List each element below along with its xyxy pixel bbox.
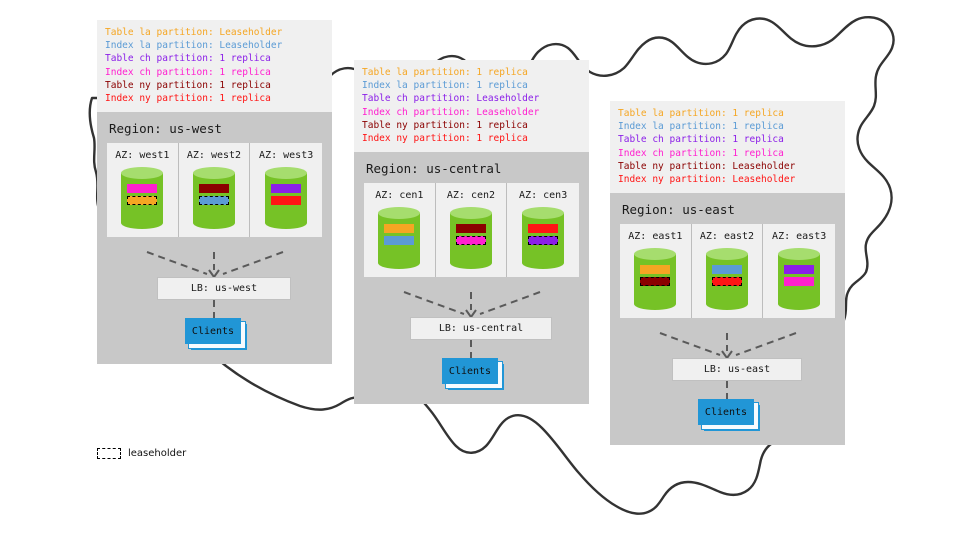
partition-bands [193,184,235,205]
partition-band [784,265,814,274]
connector-arrowhead [209,270,219,277]
az-label: AZ: cen3 [507,190,579,201]
az-label: AZ: west3 [250,150,322,161]
region-title: Region: us-east [610,193,845,224]
legend-line: Table la partition: Leaseholder [105,26,324,39]
legend-us-west: Table la partition: Leaseholder Index la… [97,20,332,112]
az-east1[interactable]: AZ: east1 [620,224,692,318]
az-label: AZ: cen2 [436,190,507,201]
partition-band [456,236,486,245]
az-east3[interactable]: AZ: east3 [763,224,835,318]
partition-band [640,265,670,274]
connector-arrowhead [722,351,732,358]
az-label: AZ: east3 [763,231,835,242]
partition-band [712,265,742,274]
clients-card-front[interactable]: Clients [185,318,241,344]
az-label: AZ: east2 [692,231,763,242]
clients-stack: Clients [185,318,241,344]
legend-line: Table ny partition: 1 replica [105,79,324,92]
node-cylinder[interactable] [265,167,307,227]
clients-label: Clients [449,366,491,377]
legend-us-central: Table la partition: 1 replica Index la p… [354,60,589,152]
connector-az1-lb [660,333,720,355]
legend-line: Index la partition: 1 replica [362,79,581,92]
region-title: Region: us-west [97,112,332,143]
region-us-east: Table la partition: 1 replica Index la p… [610,101,845,445]
node-cylinder[interactable] [193,167,235,227]
clients-us-central[interactable]: Clients [442,358,498,384]
region-title: Region: us-central [354,152,589,183]
az-west3[interactable]: AZ: west3 [250,143,322,237]
az-row-us-west: AZ: west1 AZ: west2 [107,143,322,237]
clients-card-front[interactable]: Clients [698,399,754,425]
clients-us-east[interactable]: Clients [698,399,754,425]
partition-band [384,224,414,233]
node-cylinder[interactable] [778,248,820,308]
partition-band [271,196,301,205]
legend-line: Table la partition: 1 replica [362,66,581,79]
node-cylinder[interactable] [450,207,492,267]
legend-line: Table la partition: 1 replica [618,107,837,120]
legend-line: Index ch partition: 1 replica [618,147,837,160]
legend-line: Table ny partition: 1 replica [362,119,581,132]
legend-line: Index ny partition: 1 replica [105,92,324,105]
legend-line: Table ny partition: Leaseholder [618,160,837,173]
partition-bands [378,224,420,245]
partition-bands [121,184,163,205]
partition-band [528,224,558,233]
partition-band [127,196,157,205]
legend-line: Index la partition: 1 replica [618,120,837,133]
legend-line: Table ch partition: 1 replica [618,133,837,146]
partition-band [456,224,486,233]
connector-az1-lb [404,292,464,314]
partition-band [712,277,742,286]
az-west2[interactable]: AZ: west2 [179,143,251,237]
connector-az3-lb [480,292,540,314]
node-cylinder[interactable] [706,248,748,308]
load-balancer-us-central[interactable]: LB: us-central [410,317,552,340]
clients-label: Clients [705,407,747,418]
load-balancer-us-west[interactable]: LB: us-west [157,277,291,300]
az-west1[interactable]: AZ: west1 [107,143,179,237]
partition-band [784,277,814,286]
az-label: AZ: east1 [620,231,691,242]
load-balancer-us-east[interactable]: LB: us-east [672,358,802,381]
region-us-west: Table la partition: Leaseholder Index la… [97,20,332,364]
az-east2[interactable]: AZ: east2 [692,224,764,318]
partition-band [199,184,229,193]
partition-bands [706,265,748,286]
legend-line: Index ny partition: Leaseholder [618,173,837,186]
legend-us-east: Table la partition: 1 replica Index la p… [610,101,845,193]
partition-bands [634,265,676,286]
node-cylinder[interactable] [121,167,163,227]
clients-stack: Clients [442,358,498,384]
legend-line: Index la partition: Leaseholder [105,39,324,52]
partition-bands [450,224,492,245]
clients-card-front[interactable]: Clients [442,358,498,384]
az-label: AZ: cen1 [364,190,435,201]
az-label: AZ: west2 [179,150,250,161]
partition-band [127,184,157,193]
az-cen1[interactable]: AZ: cen1 [364,183,436,277]
region-us-central: Table la partition: 1 replica Index la p… [354,60,589,404]
legend-line: Index ny partition: 1 replica [362,132,581,145]
node-cylinder[interactable] [378,207,420,267]
region-panel-us-west: Region: us-west AZ: west1 AZ: west2 [97,112,332,364]
clients-stack: Clients [698,399,754,425]
connector-az3-lb [736,333,796,355]
legend-line: Table ch partition: 1 replica [105,52,324,65]
node-cylinder[interactable] [522,207,564,267]
node-cylinder[interactable] [634,248,676,308]
legend-line: Table ch partition: Leaseholder [362,92,581,105]
clients-label: Clients [192,326,234,337]
region-panel-us-east: Region: us-east AZ: east1 AZ: east2 [610,193,845,445]
leaseholder-legend-label: leaseholder [128,448,186,459]
partition-band [199,196,229,205]
partition-band [528,236,558,245]
connector-az1-lb [147,252,207,274]
partition-band [384,236,414,245]
partition-bands [522,224,564,245]
az-cen2[interactable]: AZ: cen2 [436,183,508,277]
az-row-us-central: AZ: cen1 AZ: cen2 [364,183,579,277]
partition-bands [778,265,820,286]
az-cen3[interactable]: AZ: cen3 [507,183,579,277]
dashed-rectangle-icon [97,448,121,459]
partition-bands [265,184,307,205]
az-label: AZ: west1 [107,150,178,161]
leaseholder-legend-key: leaseholder [97,448,186,459]
clients-us-west[interactable]: Clients [185,318,241,344]
partition-band [640,277,670,286]
partition-band [271,184,301,193]
legend-line: Index ch partition: Leaseholder [362,106,581,119]
az-row-us-east: AZ: east1 AZ: east2 [620,224,835,318]
region-panel-us-central: Region: us-central AZ: cen1 AZ: cen2 [354,152,589,404]
legend-line: Index ch partition: 1 replica [105,66,324,79]
connector-arrowhead [466,310,476,317]
connector-az3-lb [223,252,283,274]
